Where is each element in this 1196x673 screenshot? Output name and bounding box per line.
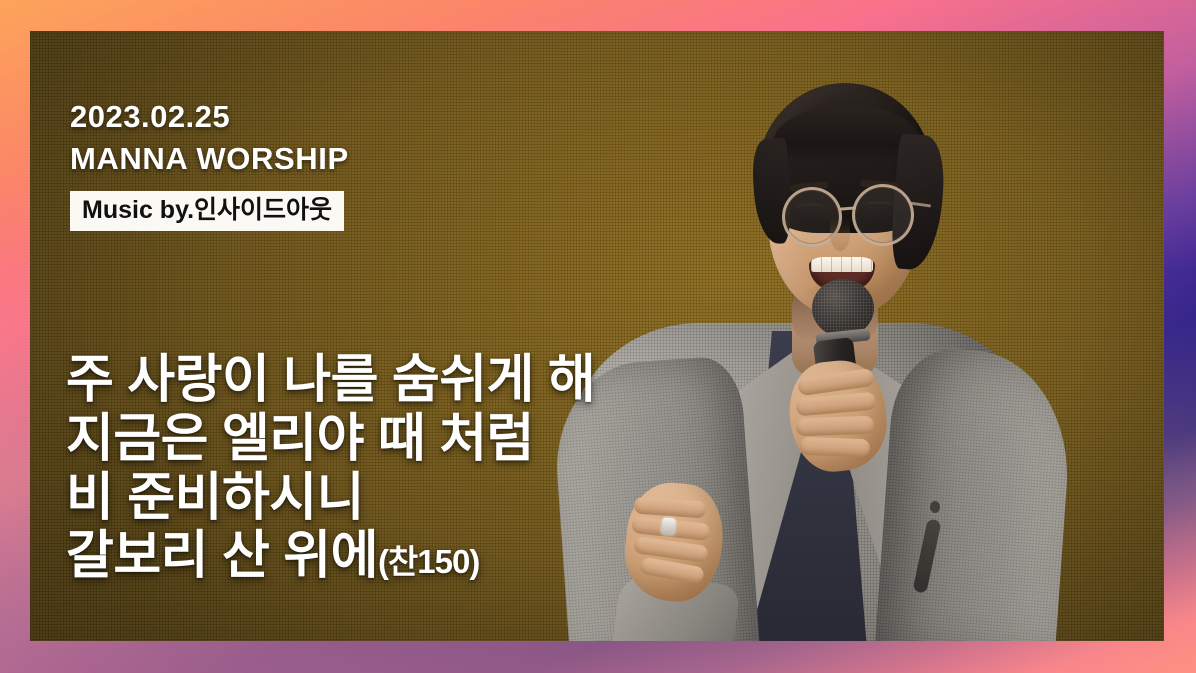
service-title: MANNA WORSHIP	[70, 141, 349, 177]
music-credit-badge: Music by.인사이드아웃	[70, 191, 344, 231]
lyric-line-3: 비 준비하시니	[66, 469, 766, 528]
lyrics-block: 주 사랑이 나를 숨쉬게 해 지금은 엘리야 때 처럼 비 준비하시니 갈보리 …	[66, 351, 766, 586]
lyric-line-4-text: 갈보리 산 위에	[66, 527, 378, 585]
lyric-line-2: 지금은 엘리야 때 처럼	[66, 410, 766, 469]
service-date: 2023.02.25	[70, 99, 230, 135]
gradient-border-canvas: 2023.02.25 MANNA WORSHIP Music by.인사이드아웃…	[0, 0, 1196, 673]
lyric-line-4: 갈보리 산 위에(찬150)	[66, 527, 766, 586]
lyric-line-1: 주 사랑이 나를 숨쉬게 해	[66, 351, 766, 410]
hymn-reference: (찬150)	[378, 543, 479, 580]
video-frame: 2023.02.25 MANNA WORSHIP Music by.인사이드아웃…	[30, 31, 1164, 641]
text-overlay: 2023.02.25 MANNA WORSHIP Music by.인사이드아웃…	[30, 31, 1164, 641]
